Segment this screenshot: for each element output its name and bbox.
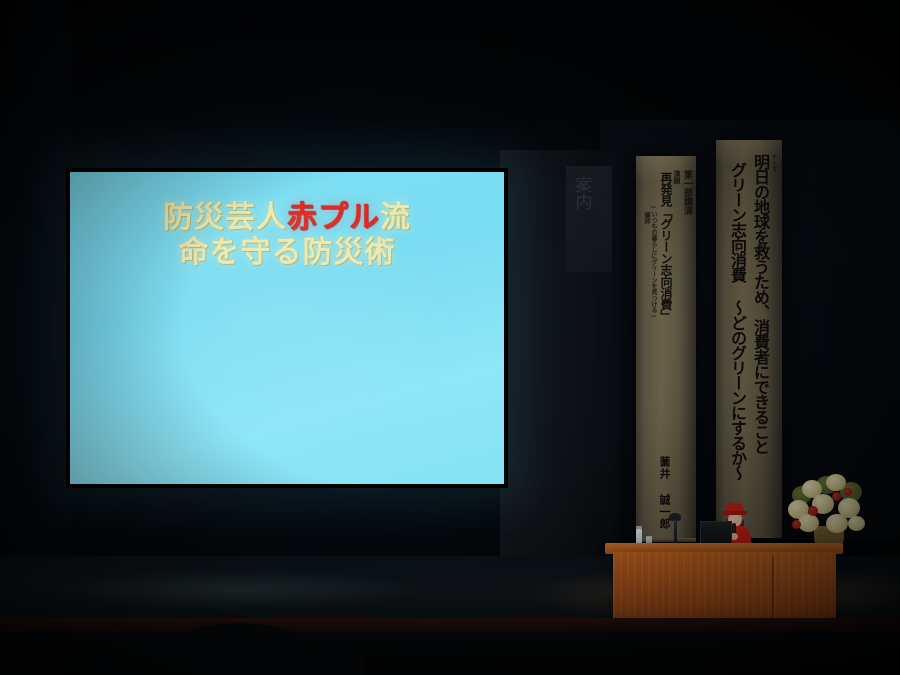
slide-title-suffix: 流 <box>380 200 411 235</box>
audience-silhouette <box>168 623 308 675</box>
podium-wood-grain <box>613 552 836 622</box>
banner-topic-subtitle: —いつもの暮らしにグリーンを見つける— <box>650 204 656 320</box>
flower-bloom <box>826 474 846 491</box>
flower-bloom <box>826 514 848 533</box>
banner-speaker-label: 講師 <box>643 212 649 224</box>
wall-placard: 案内 <box>566 166 612 272</box>
laptop-screen <box>700 521 732 544</box>
slide-title: 防災芸人赤プル流 命を守る防災術 <box>70 200 504 271</box>
banner-left-bottom-rod <box>636 538 696 542</box>
banner-topic-title: 再発見「グリーン志向消費」 <box>660 172 672 322</box>
podium-panel-seam <box>772 556 774 620</box>
flower-arrangement <box>786 472 872 550</box>
flower-bloom <box>798 514 819 532</box>
stage-floor-light-left <box>0 562 480 618</box>
wall-placard-text: 案内 <box>572 176 589 210</box>
banner-section-label: 第一部講演 <box>682 170 691 215</box>
slide-title-line2: 命を守る防災術 <box>70 235 504 270</box>
banner-topic-label: 演題 <box>673 170 680 184</box>
banner-theme-label: テーマ <box>770 154 776 172</box>
banner-session-one: 第一部講演 演題 再発見「グリーン志向消費」 —いつもの暮らしにグリーンを見つけ… <box>636 156 696 538</box>
slide-title-prefix: 防災芸人 <box>163 200 287 235</box>
banner-theme: テーマ 明日の地球を救うため、消費者にできること グリーン志向消費 〜どのグリー… <box>716 140 782 538</box>
presentation-slide: 防災芸人赤プル流 命を守る防災術 防災あるある〜？！ ✧ お片付け防災芸人 赤プ… <box>70 172 504 484</box>
slide-title-accent: 赤プル <box>287 200 380 235</box>
audience-silhouette <box>296 645 364 675</box>
conference-hall-scene: 案内 防災芸人赤プル流 命を守る防災術 防災あるある〜？！ ✧ <box>0 0 900 675</box>
red-flower <box>792 520 801 529</box>
banner-theme-line2: グリーン志向消費 〜どのグリーンにするか〜 <box>728 162 745 480</box>
slide-title-line1: 防災芸人赤プル流 <box>70 200 504 235</box>
red-flower <box>808 506 818 516</box>
flower-bloom <box>848 516 865 531</box>
slide-leader-line-upper <box>255 483 365 484</box>
audience-silhouette <box>0 653 60 675</box>
red-flower <box>832 492 841 501</box>
left-wall-shadow <box>0 0 70 560</box>
presenter-hat-brim <box>722 511 747 515</box>
red-flower <box>844 488 852 496</box>
banner-theme-line1: 明日の地球を救うため、消費者にできること <box>751 154 768 454</box>
